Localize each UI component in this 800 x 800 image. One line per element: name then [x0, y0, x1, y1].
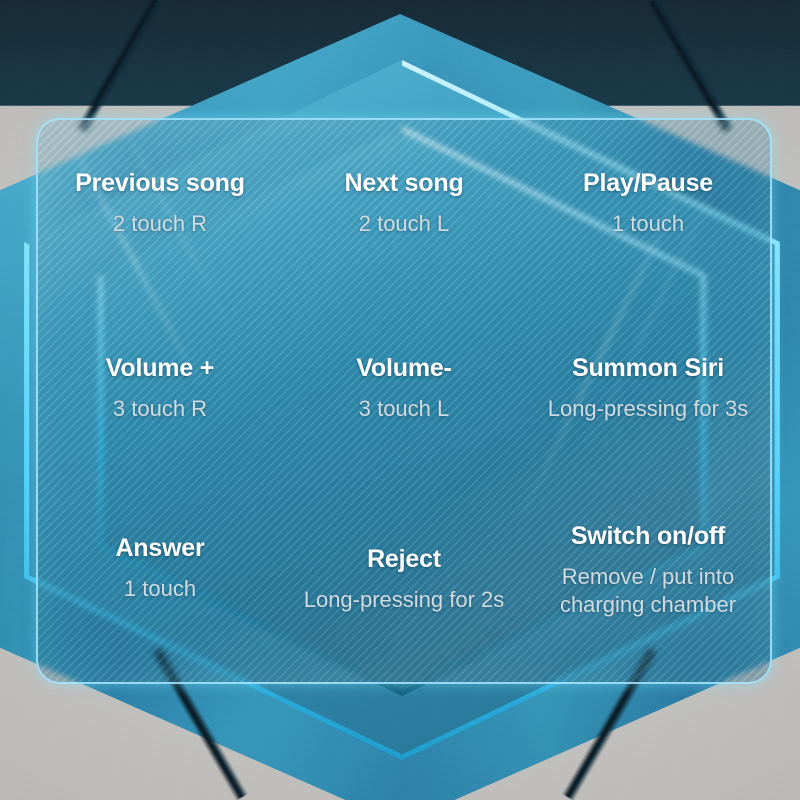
control-cell-summon-siri: Summon Siri Long-pressing for 3s — [526, 307, 770, 494]
control-action: 2 touch L — [359, 210, 450, 238]
control-action: 2 touch R — [113, 210, 207, 238]
control-title: Play/Pause — [583, 170, 713, 197]
control-title: Answer — [115, 535, 204, 562]
control-title: Next song — [344, 170, 463, 197]
control-title: Volume- — [356, 355, 451, 382]
control-grid: Previous song 2 touch R Next song 2 touc… — [38, 120, 770, 682]
control-action: 1 touch — [124, 575, 196, 603]
control-title: Switch on/off — [571, 523, 725, 550]
control-cell-previous-song: Previous song 2 touch R — [38, 120, 282, 307]
control-cell-volume-up: Volume + 3 touch R — [38, 307, 282, 494]
control-cell-reject: Reject Long-pressing for 2s — [282, 495, 526, 682]
control-action: 1 touch — [612, 210, 684, 238]
control-title: Volume + — [106, 355, 214, 382]
control-action: Long-pressing for 2s — [304, 586, 505, 614]
control-action: 3 touch R — [113, 395, 207, 423]
control-cell-switch-on-off: Switch on/off Remove / put into charging… — [526, 495, 770, 682]
control-title: Previous song — [75, 170, 245, 197]
control-cell-next-song: Next song 2 touch L — [282, 120, 526, 307]
control-guide-card: Previous song 2 touch R Next song 2 touc… — [36, 118, 772, 684]
control-action: Remove / put into charging chamber — [536, 563, 761, 619]
touch-control-infographic: Previous song 2 touch R Next song 2 touc… — [0, 0, 800, 800]
control-cell-volume-down: Volume- 3 touch L — [282, 307, 526, 494]
control-action: 3 touch L — [359, 395, 450, 423]
control-action: Long-pressing for 3s — [548, 395, 749, 423]
control-title: Reject — [367, 546, 441, 573]
control-cell-play-pause: Play/Pause 1 touch — [526, 120, 770, 307]
control-title: Summon Siri — [572, 355, 724, 382]
control-cell-answer: Answer 1 touch — [38, 495, 282, 682]
